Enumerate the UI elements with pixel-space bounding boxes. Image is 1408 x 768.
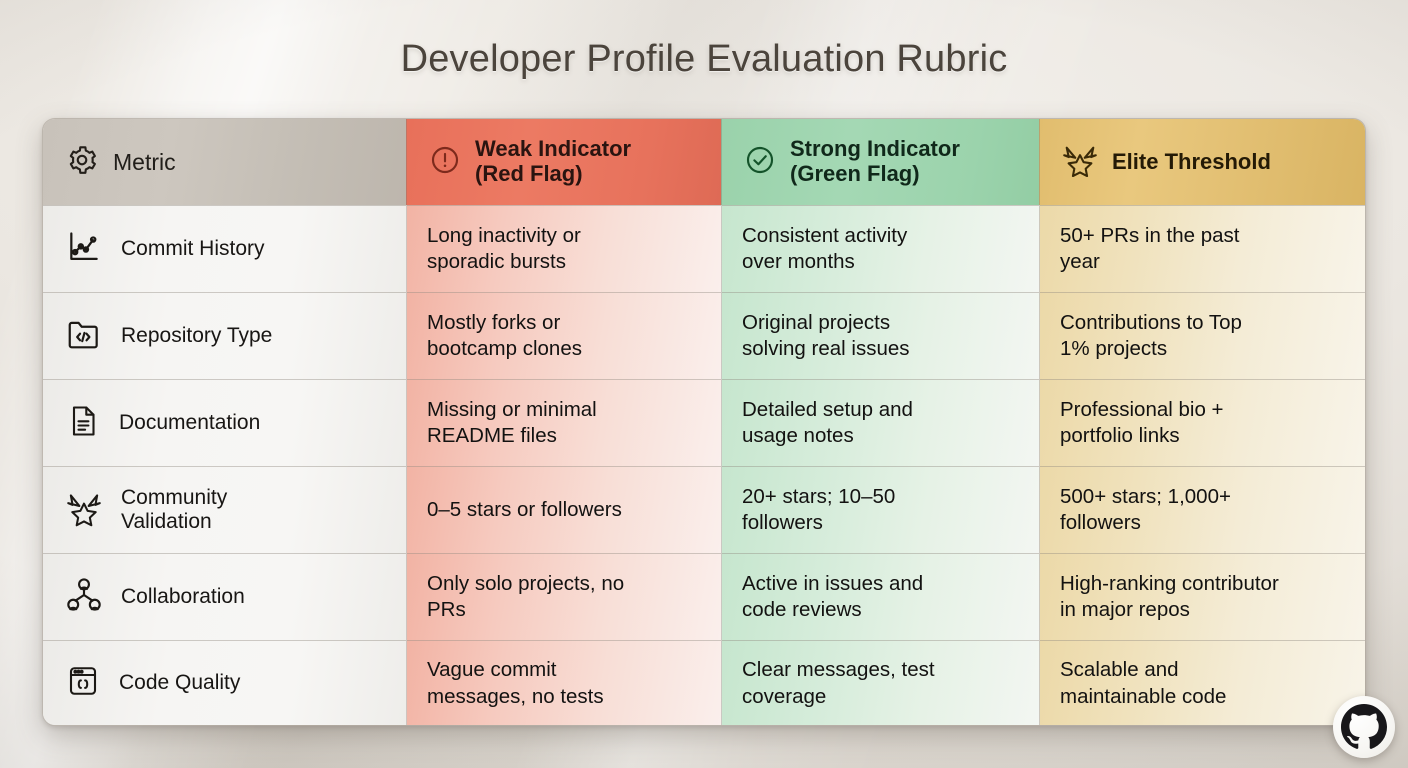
strong-cell-text: Active in issues andcode reviews	[742, 571, 937, 623]
cell-text-line: in major repos	[1060, 597, 1279, 623]
check-circle-icon	[744, 144, 776, 181]
weak-cell: Mostly forks orbootcamp clones	[406, 292, 721, 379]
cell-text-line: solving real issues	[742, 336, 910, 362]
strong-cell: Clear messages, testcoverage	[721, 640, 1039, 726]
cell-text-line: maintainable code	[1060, 684, 1226, 710]
weak-cell: Long inactivity orsporadic bursts	[406, 205, 721, 292]
metric-label-line: Community	[121, 486, 227, 510]
weak-cell: Vague commitmessages, no tests	[406, 640, 721, 726]
header-title-strong: Strong Indicator	[790, 137, 960, 162]
elite-cell: 500+ stars; 1,000+followers	[1039, 466, 1365, 553]
header-label-metric: Metric	[113, 149, 176, 175]
cell-text-line: Professional bio +	[1060, 397, 1224, 423]
elite-cell: 50+ PRs in the pastyear	[1039, 205, 1365, 292]
strong-cell: 20+ stars; 10–50followers	[721, 466, 1039, 553]
header-label-strong: Strong Indicator (Green Flag)	[790, 137, 960, 187]
cell-text-line: Detailed setup and	[742, 397, 913, 423]
table-row: Code QualityVague commitmessages, no tes…	[43, 640, 1365, 726]
document-icon	[65, 402, 101, 445]
cell-text-line: High-ranking contributor	[1060, 571, 1279, 597]
cell-text-line: code reviews	[742, 597, 923, 623]
header-subtitle-strong: (Green Flag)	[790, 162, 960, 187]
weak-cell: Missing or minimalREADME files	[406, 379, 721, 466]
cell-text-line: Long inactivity or	[427, 223, 581, 249]
header-title-elite: Elite Threshold	[1112, 150, 1271, 175]
cell-text-line: 0–5 stars or followers	[427, 497, 622, 523]
elite-cell-text: Professional bio +portfolio links	[1060, 397, 1238, 449]
metric-label: Commit History	[121, 237, 265, 261]
metric-label: Repository Type	[121, 324, 272, 348]
cell-text-line: sporadic bursts	[427, 249, 581, 275]
award-star-icon	[65, 489, 103, 532]
metric-label-line: Collaboration	[121, 585, 245, 609]
header-title-metric: Metric	[113, 149, 176, 175]
metric-label-line: Validation	[121, 510, 227, 534]
cell-text-line: 500+ stars; 1,000+	[1060, 484, 1231, 510]
cell-text-line: portfolio links	[1060, 423, 1224, 449]
table-row: Commit HistoryLong inactivity orsporadic…	[43, 205, 1365, 292]
strong-cell-text: 20+ stars; 10–50followers	[742, 484, 909, 536]
weak-cell: 0–5 stars or followers	[406, 466, 721, 553]
metric-cell: Documentation	[43, 379, 406, 466]
header-label-weak: Weak Indicator (Red Flag)	[475, 137, 631, 187]
cell-text-line: Clear messages, test	[742, 657, 935, 683]
elite-cell-text: High-ranking contributorin major repos	[1060, 571, 1293, 623]
cell-text-line: PRs	[427, 597, 624, 623]
cell-text-line: messages, no tests	[427, 684, 604, 710]
cell-text-line: Missing or minimal	[427, 397, 597, 423]
strong-cell: Active in issues andcode reviews	[721, 553, 1039, 640]
weak-cell-text: Mostly forks orbootcamp clones	[427, 310, 596, 362]
weak-cell-text: Vague commitmessages, no tests	[427, 657, 618, 709]
header-subtitle-weak: (Red Flag)	[475, 162, 631, 187]
elite-cell-text: Scalable andmaintainable code	[1060, 657, 1240, 709]
table-row: CommunityValidation0–5 stars or follower…	[43, 466, 1365, 553]
cell-text-line: followers	[1060, 510, 1231, 536]
strong-cell: Original projectssolving real issues	[721, 292, 1039, 379]
header-cell-weak: Weak Indicator (Red Flag)	[406, 119, 721, 205]
header-cell-strong: Strong Indicator (Green Flag)	[721, 119, 1039, 205]
header-title-weak: Weak Indicator	[475, 137, 631, 162]
cell-text-line: Consistent activity	[742, 223, 907, 249]
cell-text-line: Only solo projects, no	[427, 571, 624, 597]
rubric-table: Metric Weak Indicator (Red Flag)	[42, 118, 1366, 726]
weak-cell-text: Only solo projects, noPRs	[427, 571, 638, 623]
header-cell-metric: Metric	[43, 119, 406, 205]
cell-text-line: over months	[742, 249, 907, 275]
line-chart-icon	[65, 228, 103, 271]
metric-label-line: Code Quality	[119, 671, 240, 695]
header-label-elite: Elite Threshold	[1112, 150, 1271, 175]
cell-text-line: 50+ PRs in the past	[1060, 223, 1240, 249]
metric-label-line: Repository Type	[121, 324, 272, 348]
cell-text-line: Contributions to Top	[1060, 310, 1242, 336]
strong-cell-text: Consistent activityover months	[742, 223, 921, 275]
cell-text-line: usage notes	[742, 423, 913, 449]
table-row: CollaborationOnly solo projects, noPRsAc…	[43, 553, 1365, 640]
metric-label: Code Quality	[119, 671, 240, 695]
cell-text-line: Original projects	[742, 310, 910, 336]
strong-cell-text: Detailed setup andusage notes	[742, 397, 927, 449]
weak-cell-text: Missing or minimalREADME files	[427, 397, 611, 449]
header-cell-elite: Elite Threshold	[1039, 119, 1365, 205]
elite-cell: Scalable andmaintainable code	[1039, 640, 1365, 726]
cell-text-line: coverage	[742, 684, 935, 710]
weak-cell-text: Long inactivity orsporadic bursts	[427, 223, 595, 275]
metric-label: CommunityValidation	[121, 486, 227, 534]
metric-label: Documentation	[119, 411, 260, 435]
award-star-icon	[1062, 143, 1098, 182]
cell-text-line: 1% projects	[1060, 336, 1242, 362]
metric-label-line: Documentation	[119, 411, 260, 435]
table-header-row: Metric Weak Indicator (Red Flag)	[43, 119, 1365, 205]
metric-cell: Repository Type	[43, 292, 406, 379]
cell-text-line: Active in issues and	[742, 571, 923, 597]
cell-text-line: followers	[742, 510, 895, 536]
elite-cell: Professional bio +portfolio links	[1039, 379, 1365, 466]
elite-cell: Contributions to Top1% projects	[1039, 292, 1365, 379]
cell-text-line: README files	[427, 423, 597, 449]
folder-code-icon	[65, 315, 103, 358]
alert-circle-icon	[429, 144, 461, 181]
table-row: Repository TypeMostly forks orbootcamp c…	[43, 292, 1365, 379]
elite-cell: High-ranking contributorin major repos	[1039, 553, 1365, 640]
gear-icon	[65, 143, 99, 182]
strong-cell-text: Clear messages, testcoverage	[742, 657, 949, 709]
strong-cell: Consistent activityover months	[721, 205, 1039, 292]
elite-cell-text: 500+ stars; 1,000+followers	[1060, 484, 1245, 536]
cell-text-line: Scalable and	[1060, 657, 1226, 683]
table-body: Commit HistoryLong inactivity orsporadic…	[43, 205, 1365, 726]
metric-label-line: Commit History	[121, 237, 265, 261]
code-window-icon	[65, 662, 101, 705]
metric-cell: Collaboration	[43, 553, 406, 640]
cell-text-line: 20+ stars; 10–50	[742, 484, 895, 510]
table-row: DocumentationMissing or minimalREADME fi…	[43, 379, 1365, 466]
metric-label: Collaboration	[121, 585, 245, 609]
metric-cell: CommunityValidation	[43, 466, 406, 553]
metric-cell: Code Quality	[43, 640, 406, 726]
strong-cell-text: Original projectssolving real issues	[742, 310, 924, 362]
people-network-icon	[65, 576, 103, 619]
cell-text-line: Mostly forks or	[427, 310, 582, 336]
weak-cell-text: 0–5 stars or followers	[427, 497, 636, 523]
metric-cell: Commit History	[43, 205, 406, 292]
elite-cell-text: 50+ PRs in the pastyear	[1060, 223, 1254, 275]
weak-cell: Only solo projects, noPRs	[406, 553, 721, 640]
github-logo-icon	[1333, 696, 1395, 758]
strong-cell: Detailed setup andusage notes	[721, 379, 1039, 466]
elite-cell-text: Contributions to Top1% projects	[1060, 310, 1256, 362]
cell-text-line: Vague commit	[427, 657, 604, 683]
cell-text-line: year	[1060, 249, 1240, 275]
page-title: Developer Profile Evaluation Rubric	[0, 38, 1408, 81]
cell-text-line: bootcamp clones	[427, 336, 582, 362]
